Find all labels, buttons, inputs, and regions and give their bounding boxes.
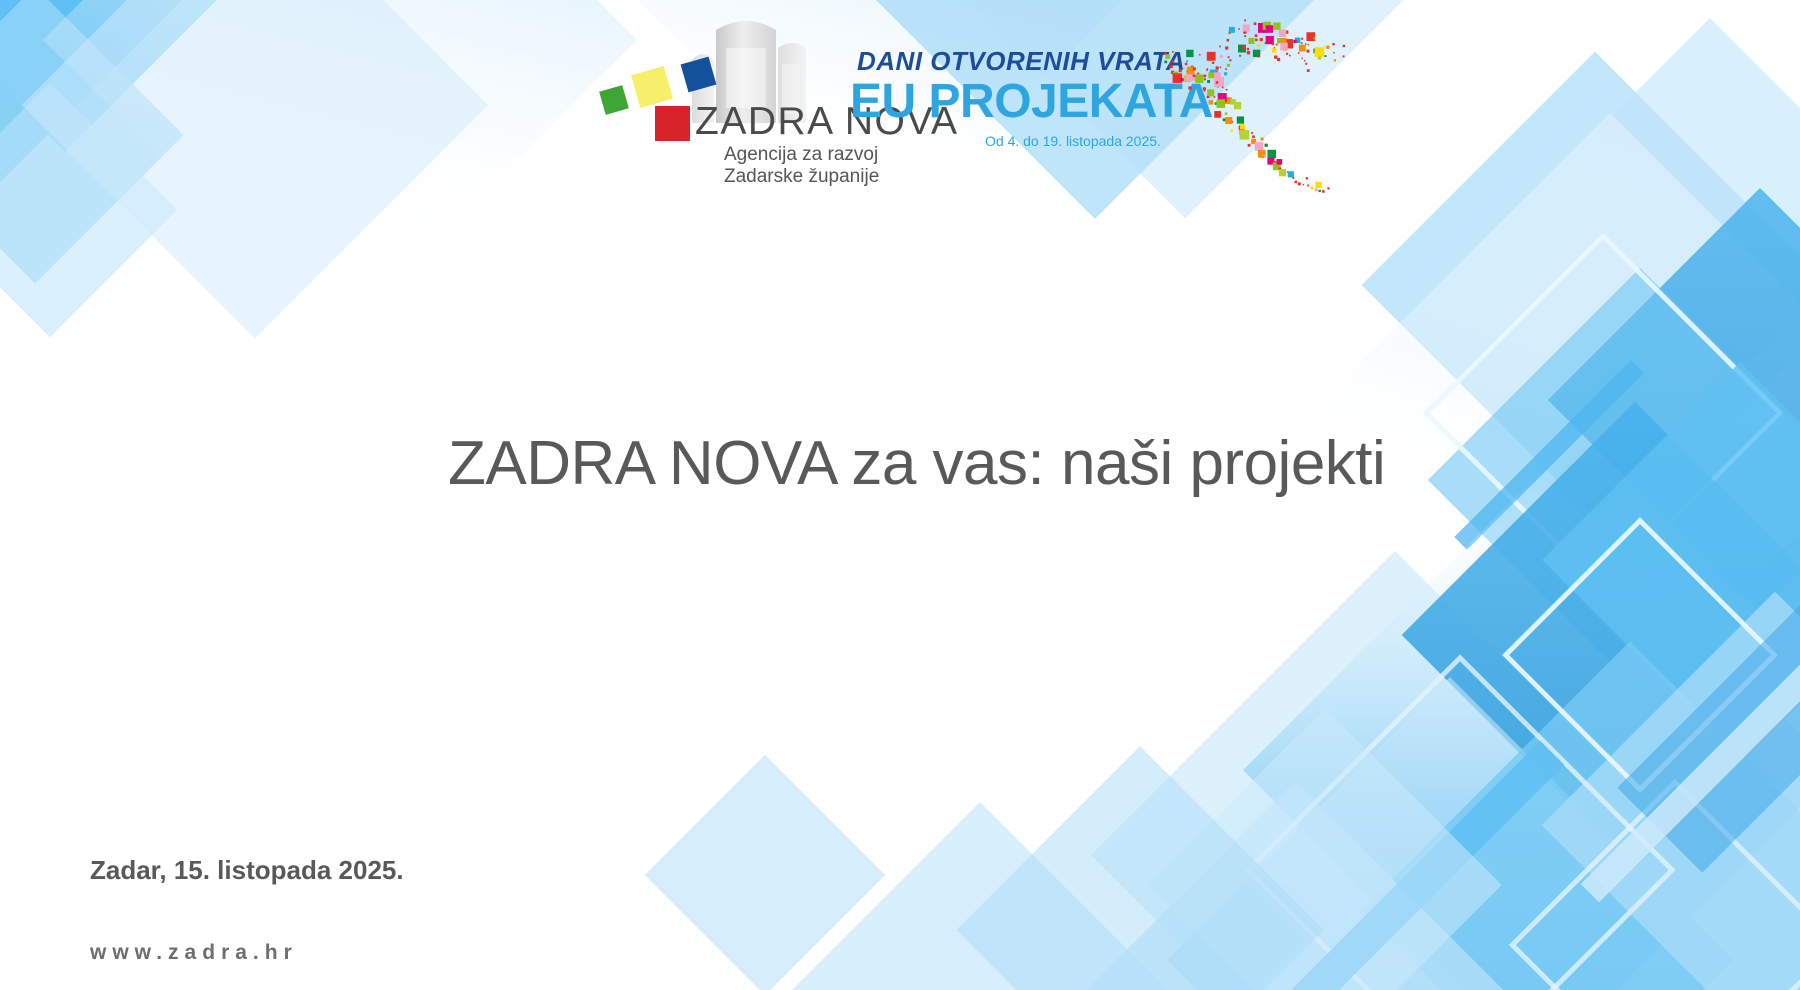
croatia-mosaic-icon [1155, 8, 1355, 208]
eu-logo-dates: Od 4. do 19. listopada 2025. [985, 133, 1161, 149]
zadra-nova-subtitle-line2: Zadarske županije [724, 166, 879, 188]
decor-bottom-left-accent [645, 708, 1502, 990]
zadra-nova-logo[interactable]: ZADRA NOVA Agencija za razvoj Zadarske ž… [600, 18, 860, 178]
decor-top-left-cluster [0, 0, 637, 338]
eu-projekata-logo[interactable]: DANI OTVORENIH VRATA EU PROJEKATA Od 4. … [850, 30, 1190, 165]
header-logo-bar: ZADRA NOVA Agencija za razvoj Zadarske ž… [600, 0, 1500, 210]
logo-square-yellow [631, 66, 673, 108]
logo-square-green [599, 85, 629, 115]
eu-logo-kicker: DANI OTVORENIH VRATA [857, 46, 1185, 77]
presentation-slide: ZADRA NOVA Agencija za razvoj Zadarske ž… [0, 0, 1800, 990]
slide-title: ZADRA NOVA za vas: naši projekti [448, 430, 1448, 498]
footer-website[interactable]: www.zadra.hr [90, 941, 298, 965]
footer-place-date: Zadar, 15. listopada 2025. [90, 855, 404, 886]
logo-square-red [655, 106, 690, 141]
